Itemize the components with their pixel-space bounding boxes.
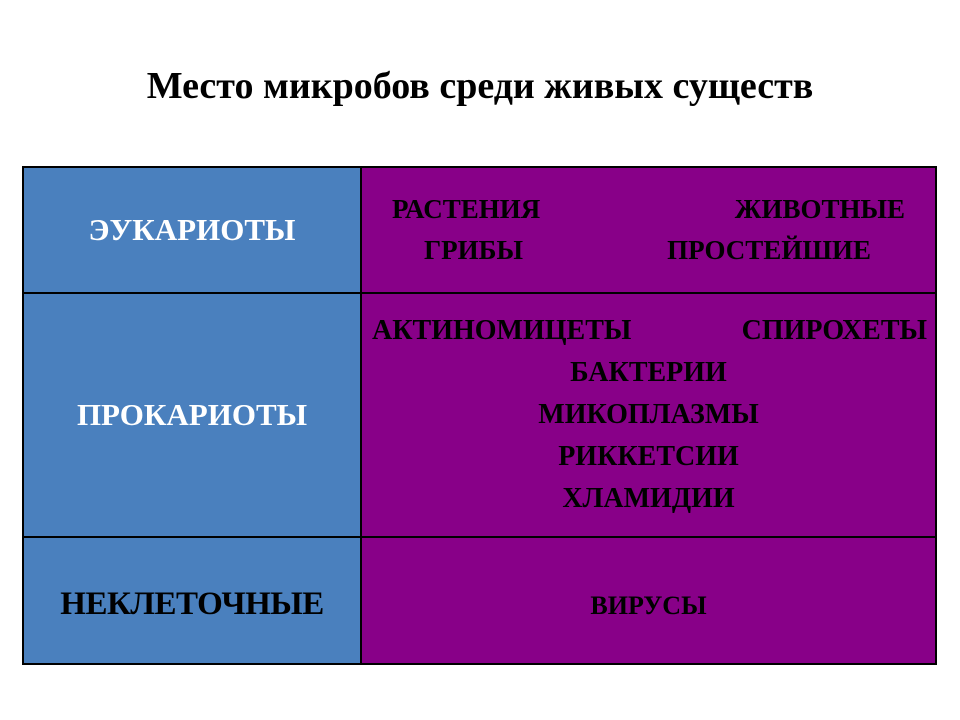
row-label-cell-prokaryotes: ПРОКАРИОТЫ xyxy=(23,293,361,537)
row-label-acellular: НЕКЛЕТОЧНЫЕ xyxy=(24,579,360,623)
slide-canvas: Место микробов среди живых существ ЭУКАР… xyxy=(0,0,960,720)
table-row: НЕКЛЕТОЧНЫЕ ВИРУСЫ xyxy=(23,537,936,664)
row-groups-cell-prokaryotes: АКТИНОМИЦЕТЫ СПИРОХЕТЫ БАКТЕРИИ МИКОПЛАЗ… xyxy=(361,293,936,537)
group-item-spirochetes: СПИРОХЕТЫ xyxy=(742,310,927,352)
group-item-bacteria: БАКТЕРИИ xyxy=(362,352,935,394)
row-label-cell-acellular: НЕКЛЕТОЧНЫЕ xyxy=(23,537,361,664)
group-item-plants: РАСТЕНИЯ xyxy=(392,189,540,230)
table-row: ЭУКАРИОТЫ РАСТЕНИЯ ЖИВОТНЫЕ ГРИБЫ ПРОСТЕ… xyxy=(23,167,936,293)
row-label-eukaryotes: ЭУКАРИОТЫ xyxy=(24,212,360,248)
groups-line: АКТИНОМИЦЕТЫ СПИРОХЕТЫ xyxy=(362,310,935,352)
row-label-prokaryotes: ПРОКАРИОТЫ xyxy=(24,397,360,433)
group-item-viruses: ВИРУСЫ xyxy=(362,581,935,621)
group-item-fungi: ГРИБЫ xyxy=(424,230,523,271)
row-label-cell-eukaryotes: ЭУКАРИОТЫ xyxy=(23,167,361,293)
group-item-rickettsiae: РИККЕТСИИ xyxy=(362,436,935,478)
groups-line: ГРИБЫ ПРОСТЕЙШИЕ xyxy=(378,230,919,271)
page-title: Место микробов среди живых существ xyxy=(30,64,930,108)
group-item-actinomycetes: АКТИНОМИЦЕТЫ xyxy=(372,310,631,352)
table-row: ПРОКАРИОТЫ АКТИНОМИЦЕТЫ СПИРОХЕТЫ БАКТЕР… xyxy=(23,293,936,537)
groups-list-eukaryotes: РАСТЕНИЯ ЖИВОТНЫЕ ГРИБЫ ПРОСТЕЙШИЕ xyxy=(362,189,935,271)
group-item-chlamydiae: ХЛАМИДИИ xyxy=(362,478,935,520)
classification-table: ЭУКАРИОТЫ РАСТЕНИЯ ЖИВОТНЫЕ ГРИБЫ ПРОСТЕ… xyxy=(22,166,937,665)
groups-list-prokaryotes: АКТИНОМИЦЕТЫ СПИРОХЕТЫ БАКТЕРИИ МИКОПЛАЗ… xyxy=(362,310,935,520)
group-item-mycoplasmas: МИКОПЛАЗМЫ xyxy=(362,394,935,436)
row-groups-cell-acellular: ВИРУСЫ xyxy=(361,537,936,664)
groups-line: РАСТЕНИЯ ЖИВОТНЫЕ xyxy=(378,189,919,230)
group-item-protozoa: ПРОСТЕЙШИЕ xyxy=(667,230,871,271)
row-groups-cell-eukaryotes: РАСТЕНИЯ ЖИВОТНЫЕ ГРИБЫ ПРОСТЕЙШИЕ xyxy=(361,167,936,293)
group-item-animals: ЖИВОТНЫЕ xyxy=(735,189,905,230)
